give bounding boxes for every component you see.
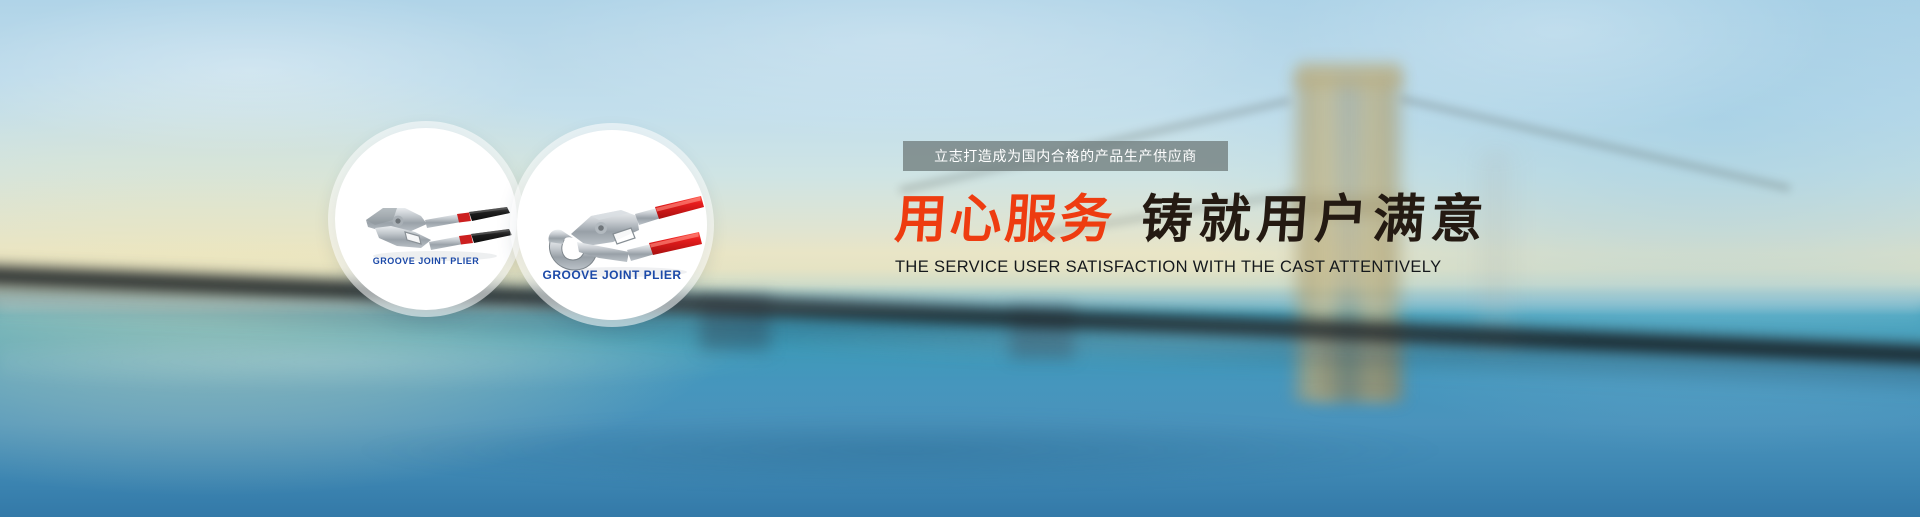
- slogan-line: 用心服务 铸就用户满意: [895, 194, 1455, 246]
- hero-banner: GROOVE JOINT PLIER: [0, 0, 1920, 517]
- slogan-block: 用心服务 铸就用户满意 THE SERVICE USER SATISFACTIO…: [895, 194, 1455, 277]
- product-caption: GROOVE JOINT PLIER: [517, 268, 707, 282]
- product-circle-1[interactable]: GROOVE JOINT PLIER: [335, 128, 517, 310]
- slogan-primary: 用心服务: [893, 194, 1117, 246]
- groove-joint-plier-black-icon: [335, 128, 517, 310]
- product-caption: GROOVE JOINT PLIER: [335, 256, 517, 266]
- headline-bar: 立志打造成为国内合格的产品生产供应商: [903, 141, 1228, 171]
- product-circle-2[interactable]: GROOVE JOINT PLIER: [517, 130, 707, 320]
- slogan-secondary: 铸就用户满意: [1139, 194, 1491, 246]
- slogan-english: THE SERVICE USER SATISFACTION WITH THE C…: [895, 258, 1455, 277]
- headline-bar-text: 立志打造成为国内合格的产品生产供应商: [934, 146, 1197, 166]
- bridge-tower-cap-icon: [1296, 62, 1402, 88]
- groove-joint-plier-red-icon: [517, 130, 707, 320]
- water-reflections: [0, 300, 1920, 517]
